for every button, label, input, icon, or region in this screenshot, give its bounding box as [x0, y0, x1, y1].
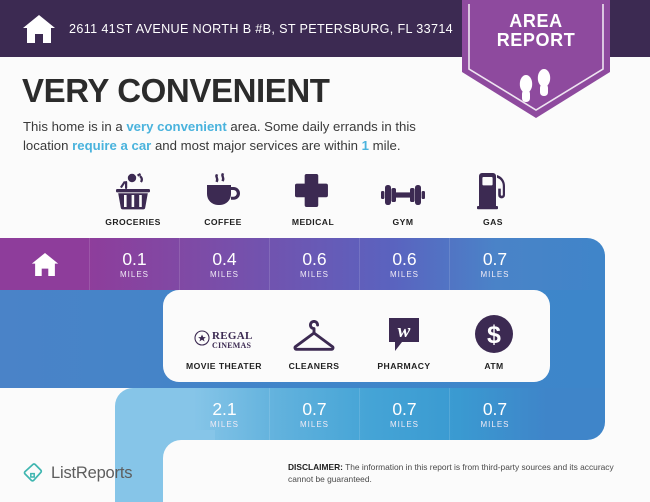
distance-value: 0.1 — [122, 250, 146, 268]
disclaimer: DISCLAIMER: The information in this repo… — [288, 462, 636, 485]
bar-home-cell — [0, 238, 90, 290]
amenity-gas: GAS — [448, 168, 538, 227]
distance-unit: MILES — [390, 270, 419, 279]
distance-cell-gym: 0.6 MILES — [360, 238, 450, 290]
home-icon — [31, 252, 59, 277]
amenity-label: GROCERIES — [105, 217, 161, 227]
gas-pump-icon — [476, 168, 510, 210]
distance-cell-pharmacy: 0.7 MILES — [360, 388, 450, 440]
blurb-part-3: and most major services are within — [151, 138, 361, 153]
blurb-highlight-convenience: very convenient — [126, 119, 226, 134]
distance-cell-gas: 0.7 MILES — [450, 238, 540, 290]
header-bar: 2611 41ST AVENUE NORTH B #B, ST PETERSBU… — [0, 0, 470, 57]
amenity-label: GAS — [483, 217, 503, 227]
distance-value: 2.1 — [212, 400, 236, 418]
amenity-label: ATM — [484, 361, 503, 371]
clothes-hanger-icon — [291, 312, 337, 354]
distance-cell-medical: 0.6 MILES — [270, 238, 360, 290]
amenity-cleaners: CLEANERS — [269, 312, 359, 371]
distance-cell-atm: 0.7 MILES — [450, 388, 540, 440]
home-icon — [22, 14, 56, 44]
amenity-coffee: COFFEE — [178, 168, 268, 227]
distance-unit: MILES — [480, 270, 509, 279]
distance-bar-row-1: 0.1 MILES 0.4 MILES 0.6 MILES 0.6 MILES … — [0, 238, 605, 290]
amenity-icon-row-2: REGAL CINEMAS MOVIE THEATER CLEANERS — [179, 312, 539, 371]
distance-unit: MILES — [300, 420, 329, 429]
amenity-label: MEDICAL — [292, 217, 334, 227]
badge-label: AREA REPORT — [462, 12, 610, 50]
dollar-sign-icon: $ — [474, 312, 514, 354]
badge-line-1: AREA — [462, 12, 610, 31]
area-report-infographic: 2611 41ST AVENUE NORTH B #B, ST PETERSBU… — [0, 0, 650, 502]
distance-unit: MILES — [120, 270, 149, 279]
distance-cell-groceries: 0.1 MILES — [90, 238, 180, 290]
amenity-movie-theater: REGAL CINEMAS MOVIE THEATER — [179, 312, 269, 371]
distance-unit: MILES — [210, 270, 239, 279]
amenity-gym: GYM — [358, 168, 448, 227]
distance-unit: MILES — [210, 420, 239, 429]
distance-value: 0.6 — [302, 250, 326, 268]
amenity-label: COFFEE — [204, 217, 242, 227]
blurb-highlight-transport: require a car — [72, 138, 151, 153]
svg-text:w: w — [398, 321, 411, 342]
grocery-basket-icon — [113, 168, 153, 210]
distance-value: 0.7 — [483, 250, 507, 268]
area-report-badge: AREA REPORT — [462, 0, 610, 118]
distance-value: 0.7 — [483, 400, 507, 418]
distance-value: 0.7 — [392, 400, 416, 418]
svg-text:CINEMAS: CINEMAS — [212, 341, 252, 350]
amenity-atm: $ ATM — [449, 312, 539, 371]
amenity-label: MOVIE THEATER — [186, 361, 262, 371]
badge-line-2: REPORT — [462, 31, 610, 50]
amenity-label: PHARMACY — [377, 361, 430, 371]
distance-value: 0.4 — [212, 250, 236, 268]
amenity-medical: MEDICAL — [268, 168, 358, 227]
svg-text:$: $ — [487, 321, 501, 349]
summary-text: This home is in a very convenient area. … — [23, 118, 463, 155]
distance-value: 0.7 — [302, 400, 326, 418]
logo-text: ListReports — [51, 464, 132, 483]
amenity-pharmacy: w PHARMACY — [359, 312, 449, 371]
amenity-icon-row-1: GROCERIES COFFEE — [88, 168, 538, 227]
blurb-part-4: mile. — [369, 138, 401, 153]
amenity-label: GYM — [393, 217, 414, 227]
dumbbell-icon — [381, 168, 425, 210]
amenity-label: CLEANERS — [289, 361, 340, 371]
distance-cell-coffee: 0.4 MILES — [180, 238, 270, 290]
coffee-cup-icon — [204, 168, 242, 210]
property-address: 2611 41ST AVENUE NORTH B #B, ST PETERSBU… — [69, 22, 453, 36]
distance-cell-cleaners: 0.7 MILES — [270, 388, 360, 440]
distance-unit: MILES — [300, 270, 329, 279]
blurb-highlight-distance: 1 — [362, 138, 369, 153]
distance-unit: MILES — [390, 420, 419, 429]
listreports-house-icon — [22, 462, 44, 484]
medical-cross-icon — [295, 168, 331, 210]
regal-cinemas-logo: REGAL CINEMAS — [193, 312, 255, 354]
listreports-logo: ListReports — [22, 462, 132, 484]
disclaimer-label: DISCLAIMER: — [288, 462, 343, 472]
walgreens-logo: w — [387, 312, 421, 354]
distance-value: 0.6 — [392, 250, 416, 268]
blurb-part-1: This home is in a — [23, 119, 126, 134]
amenity-groceries: GROCERIES — [88, 168, 178, 227]
distance-unit: MILES — [480, 420, 509, 429]
page-title: VERY CONVENIENT — [22, 72, 330, 110]
